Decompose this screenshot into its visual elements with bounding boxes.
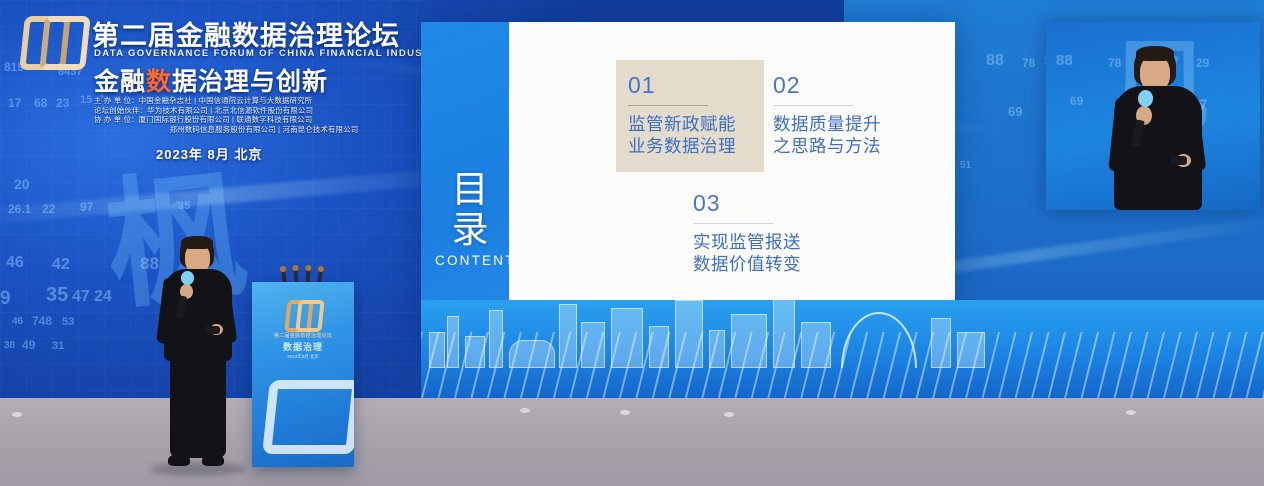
- podium-watermark-logo: [262, 380, 354, 454]
- city-skyline-graphic: [421, 300, 1264, 398]
- bg-number: 49: [22, 338, 35, 352]
- section-heading-en: CONTENTS: [435, 253, 507, 268]
- bg-number: 9: [0, 288, 11, 310]
- banner-date-location: 2023年 8月 北京: [156, 144, 262, 163]
- podium: 第二届金融数据治理论坛 数据治理 2023年8月 北京: [252, 282, 354, 467]
- agenda-item-line2: 数据价值转变: [693, 254, 841, 276]
- theme-highlight-char: 数: [146, 67, 172, 96]
- bg-number: 88: [986, 52, 1004, 70]
- banner-title-en: DATA GOVERNANCE FORUM OF CHINA FINANCIAL…: [94, 48, 446, 59]
- clicker-device: [1170, 156, 1187, 165]
- agenda-item-line1: 数据质量提升: [773, 114, 918, 136]
- bg-number: 53: [62, 316, 74, 328]
- organizer-line: 主 办 单 位：中国金融杂志社 | 中国信通院云计算与大数据研究所: [94, 96, 414, 106]
- organizer-line: 协 办 单 位：厦门国际银行股份有限公司 | 联通数字科技有限公司: [94, 115, 414, 125]
- light-rays: [421, 332, 1264, 398]
- floor-light-dot: [1126, 410, 1136, 415]
- conference-stage-scene: 枫 风 819 6437 17 68 23 15 4 20 26.1 22 97…: [0, 0, 1264, 486]
- bg-number: 35: [46, 284, 68, 307]
- bg-number: 38: [4, 340, 15, 351]
- floor-light-dot: [724, 412, 734, 417]
- theme-part-1: 金融: [94, 67, 146, 96]
- bg-number: 20: [14, 176, 30, 192]
- forum-hexagon-logo: [286, 298, 320, 328]
- agenda-item-line1: 监管新政赋能: [628, 114, 754, 136]
- bg-number: 47: [72, 288, 90, 306]
- microphone: [293, 268, 298, 283]
- shoe-left: [168, 454, 190, 466]
- agenda-item-number: 02: [773, 72, 918, 99]
- podium-subtitle: 数据治理: [262, 340, 344, 353]
- agenda-item-rule: [628, 105, 708, 106]
- agenda-item-02[interactable]: 02 数据质量提升 之思路与方法: [773, 72, 918, 158]
- banner-theme-cn: 金融数据治理与创新: [94, 62, 328, 98]
- clicker-device: [205, 326, 220, 334]
- bg-number: 31: [52, 340, 64, 352]
- forum-banner: 第二届金融数据治理论坛 DATA GOVERNANCE FORUM OF CHI…: [6, 4, 418, 169]
- organizer-line: 论坛创始伙伴：华为技术有限公司 | 北京北信源软件股份有限公司: [94, 106, 414, 116]
- agenda-item-03[interactable]: 03 实现监管报送 数据价值转变: [693, 190, 841, 276]
- presentation-slide: 目录 CONTENTS 01 监管新政赋能 业务数据治理 02 数据质量提升 之…: [421, 22, 955, 340]
- organizer-line: 郑州数码信息服务股份有限公司 | 河南昆仑技术有限公司: [94, 125, 414, 135]
- agenda-item-line1: 实现监管报送: [693, 232, 841, 254]
- agenda-item-line2: 业务数据治理: [628, 136, 754, 158]
- agenda-item-number: 03: [693, 190, 841, 217]
- floor-light-dot: [520, 408, 530, 413]
- floor-light-dot: [12, 412, 22, 417]
- agenda-item-01[interactable]: 01 监管新政赋能 业务数据治理: [616, 60, 764, 172]
- bg-number: 51: [960, 160, 971, 171]
- banner-organizers: 主 办 单 位：中国金融杂志社 | 中国信通院云计算与大数据研究所 论坛创始伙伴…: [94, 96, 414, 134]
- section-heading-cn: 目录: [435, 170, 507, 250]
- agenda-item-number: 01: [628, 72, 754, 99]
- agenda-item-rule: [773, 105, 853, 106]
- microphone-head: [1138, 90, 1153, 107]
- speaker-on-stage: [152, 236, 244, 468]
- slide-section-heading: 目录 CONTENTS: [435, 170, 507, 268]
- microphone: [306, 268, 311, 283]
- bg-number: 88: [1056, 52, 1073, 69]
- speaker-in-video-feed: [1108, 46, 1218, 210]
- hair-fringe: [1136, 46, 1174, 61]
- floor-light-dot: [620, 410, 630, 415]
- bg-number: 46: [6, 254, 24, 272]
- agenda-item-rule: [693, 223, 773, 224]
- theme-part-2: 据治理与创新: [172, 67, 328, 96]
- bg-number: 46: [12, 316, 23, 327]
- microphone-head: [181, 271, 194, 285]
- bg-number: 78: [1022, 56, 1035, 70]
- agenda-item-line2: 之思路与方法: [773, 136, 918, 158]
- bg-number: 69: [1070, 94, 1083, 108]
- live-camera-feed-speaker: 88 78 29 69 57 风: [1046, 22, 1260, 210]
- forum-interlocking-hexagon-logo: [22, 12, 84, 66]
- bg-number: 69: [1008, 104, 1022, 119]
- podium-title: 第二届金融数据治理论坛: [262, 332, 344, 339]
- shoe-right: [202, 454, 224, 466]
- bg-number: 24: [94, 288, 112, 306]
- bg-number: 42: [52, 256, 70, 274]
- podium-date: 2023年8月 北京: [262, 354, 344, 360]
- trousers: [170, 358, 226, 458]
- hair-fringe: [181, 236, 213, 249]
- bg-number: 748: [32, 314, 52, 328]
